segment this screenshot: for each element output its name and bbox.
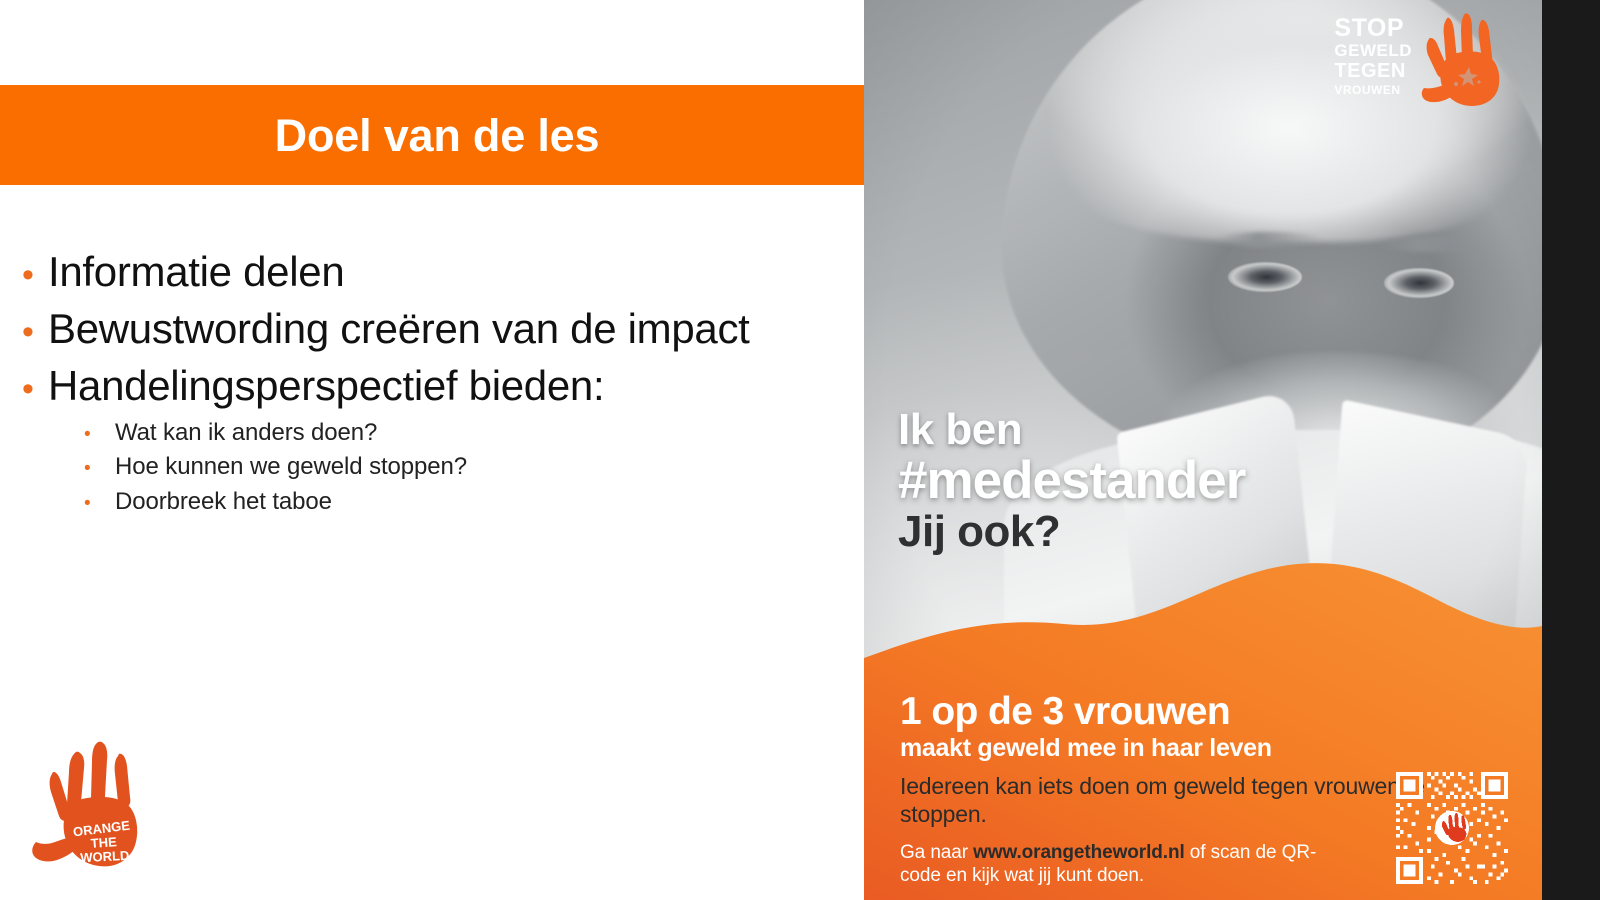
campaign-line-4: VROUWEN: [1334, 85, 1412, 97]
campaign-line-1: STOP: [1334, 16, 1412, 40]
statistic-subhead: maakt geweld mee in haar leven: [900, 735, 1510, 761]
logo-line-3: WORLD: [80, 848, 130, 866]
right-dark-margin: [1542, 0, 1600, 900]
orange-hand-icon: [1420, 12, 1504, 110]
list-item-label: Wat kan ik anders doen?: [115, 419, 377, 447]
campaign-wordmark: STOP GEWELD TEGEN VROUWEN: [1334, 12, 1412, 96]
cta-before: Ga naar: [900, 842, 973, 863]
list-item: • Handelingsperspectief bieden:: [22, 362, 852, 409]
bullet-dot-icon: •: [22, 258, 48, 292]
bullet-dot-icon: •: [22, 315, 48, 349]
bullet-dot-icon: •: [84, 425, 115, 444]
list-item: • Doorbreek het taboe: [84, 488, 852, 516]
bullet-dot-icon: •: [84, 459, 115, 478]
bullet-dot-icon: •: [84, 494, 115, 513]
list-item-label: Handelingsperspectief bieden:: [48, 362, 604, 409]
campaign-line-2: GEWELD: [1334, 43, 1412, 59]
poster-cta-text: Ga naar www.orangetheworld.nl of scan de…: [900, 841, 1350, 889]
poster-slogan: Ik ben #medestander Jij ook?: [898, 408, 1518, 554]
list-item-label: Doorbreek het taboe: [115, 488, 332, 516]
qr-code[interactable]: [1396, 772, 1508, 884]
orange-the-world-logo: ORANGE THE WORLD: [22, 730, 150, 880]
slide-title-bar: Doel van de les: [0, 85, 864, 185]
list-item: • Wat kan ik anders doen?: [84, 419, 852, 447]
slide-canvas: Doel van de les • Informatie delen • Bew…: [0, 0, 1600, 900]
list-item: • Informatie delen: [22, 248, 852, 295]
list-item-label: Bewustwording creëren van de impact: [48, 305, 750, 352]
stop-geweld-tegen-vrouwen-lockup: STOP GEWELD TEGEN VROUWEN: [1334, 12, 1504, 110]
bullet-dot-icon: •: [22, 372, 48, 406]
sub-bullet-list: • Wat kan ik anders doen? • Hoe kunnen w…: [84, 419, 852, 516]
bullet-list: • Informatie delen • Bewustwording creër…: [22, 248, 852, 522]
list-item: • Hoe kunnen we geweld stoppen?: [84, 453, 852, 481]
campaign-url: www.orangetheworld.nl: [973, 842, 1184, 863]
slide-content-pane: Doel van de les • Informatie delen • Bew…: [0, 0, 864, 900]
list-item-label: Informatie delen: [48, 248, 344, 295]
list-item-label: Hoe kunnen we geweld stoppen?: [115, 453, 467, 481]
campaign-line-3: TEGEN: [1334, 62, 1412, 81]
list-item: • Bewustwording creëren van de impact: [22, 305, 852, 352]
slogan-line-1: Ik ben: [898, 408, 1518, 452]
page-title: Doel van de les: [265, 113, 600, 158]
statistic-headline: 1 op de 3 vrouwen: [900, 692, 1510, 732]
campaign-poster-image: STOP GEWELD TEGEN VROUWEN: [864, 0, 1542, 900]
slogan-line-2: #medestander: [898, 454, 1518, 508]
